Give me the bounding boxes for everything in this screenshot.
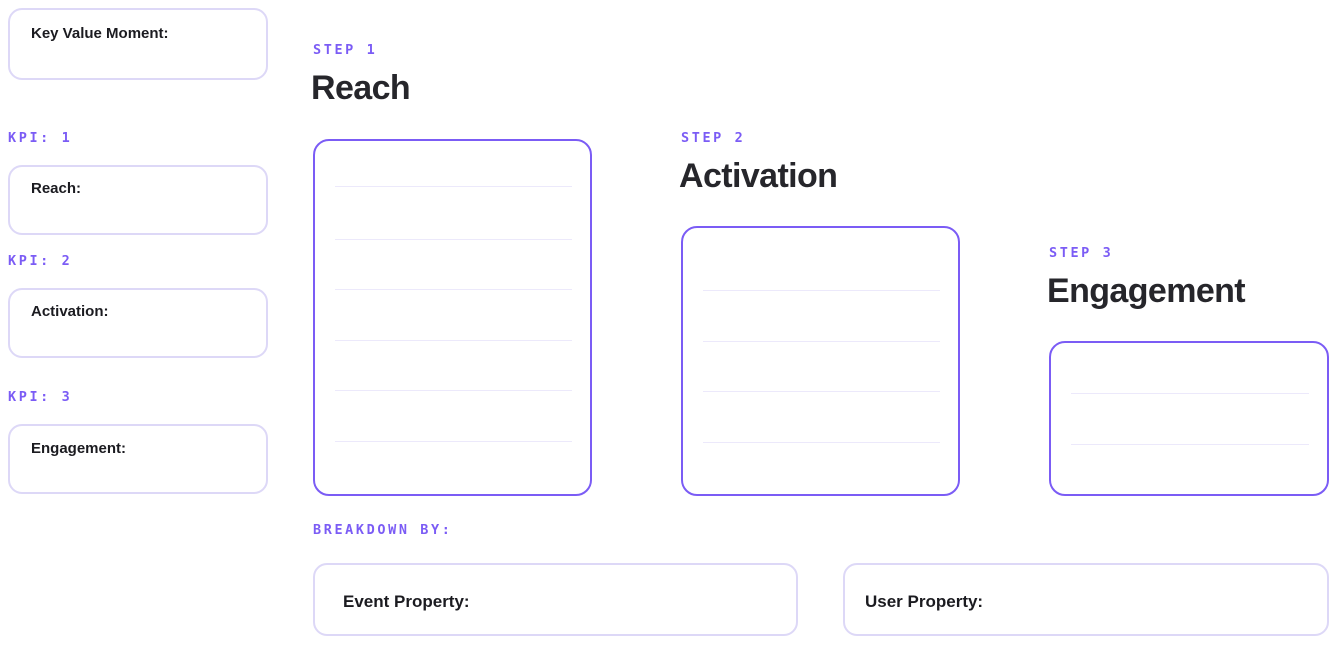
step-1-eyebrow: STEP 1: [313, 44, 377, 58]
note-rule: [703, 442, 940, 443]
breakdown-eyebrow: BREAKDOWN BY:: [313, 524, 452, 538]
note-rule: [335, 289, 572, 290]
kpi-1-eyebrow: KPI: 1: [8, 132, 72, 146]
note-rule: [703, 290, 940, 291]
step-2-title: Activation: [679, 159, 837, 193]
kpi-3-box[interactable]: [8, 424, 268, 494]
kpi-1-label: Reach:: [31, 181, 81, 196]
step-2-eyebrow: STEP 2: [681, 132, 745, 146]
note-rule: [335, 441, 572, 442]
key-value-moment-box[interactable]: [8, 8, 268, 80]
key-value-moment-label: Key Value Moment:: [31, 26, 169, 41]
event-property-label: Event Property:: [343, 593, 470, 610]
step-1-notes-card[interactable]: [313, 139, 592, 496]
step-3-title: Engagement: [1047, 274, 1245, 308]
kpi-2-eyebrow: KPI: 2: [8, 255, 72, 269]
kpi-2-label: Activation:: [31, 304, 109, 319]
kpi-3-eyebrow: KPI: 3: [8, 391, 72, 405]
note-rule: [1071, 444, 1309, 445]
note-rule: [703, 341, 940, 342]
note-rule: [703, 391, 940, 392]
note-rule: [335, 390, 572, 391]
kpi-1-box[interactable]: [8, 165, 268, 235]
kpi-3-label: Engagement:: [31, 441, 126, 456]
note-rule: [1071, 393, 1309, 394]
note-rule: [335, 186, 572, 187]
step-1-title: Reach: [311, 71, 410, 105]
worksheet-canvas: Key Value Moment: KPI: 1 Reach: KPI: 2 A…: [0, 0, 1337, 646]
step-2-notes-card[interactable]: [681, 226, 960, 496]
step-3-eyebrow: STEP 3: [1049, 247, 1113, 261]
note-rule: [335, 239, 572, 240]
user-property-label: User Property:: [865, 593, 983, 610]
kpi-2-box[interactable]: [8, 288, 268, 358]
step-3-notes-card[interactable]: [1049, 341, 1329, 496]
note-rule: [335, 340, 572, 341]
